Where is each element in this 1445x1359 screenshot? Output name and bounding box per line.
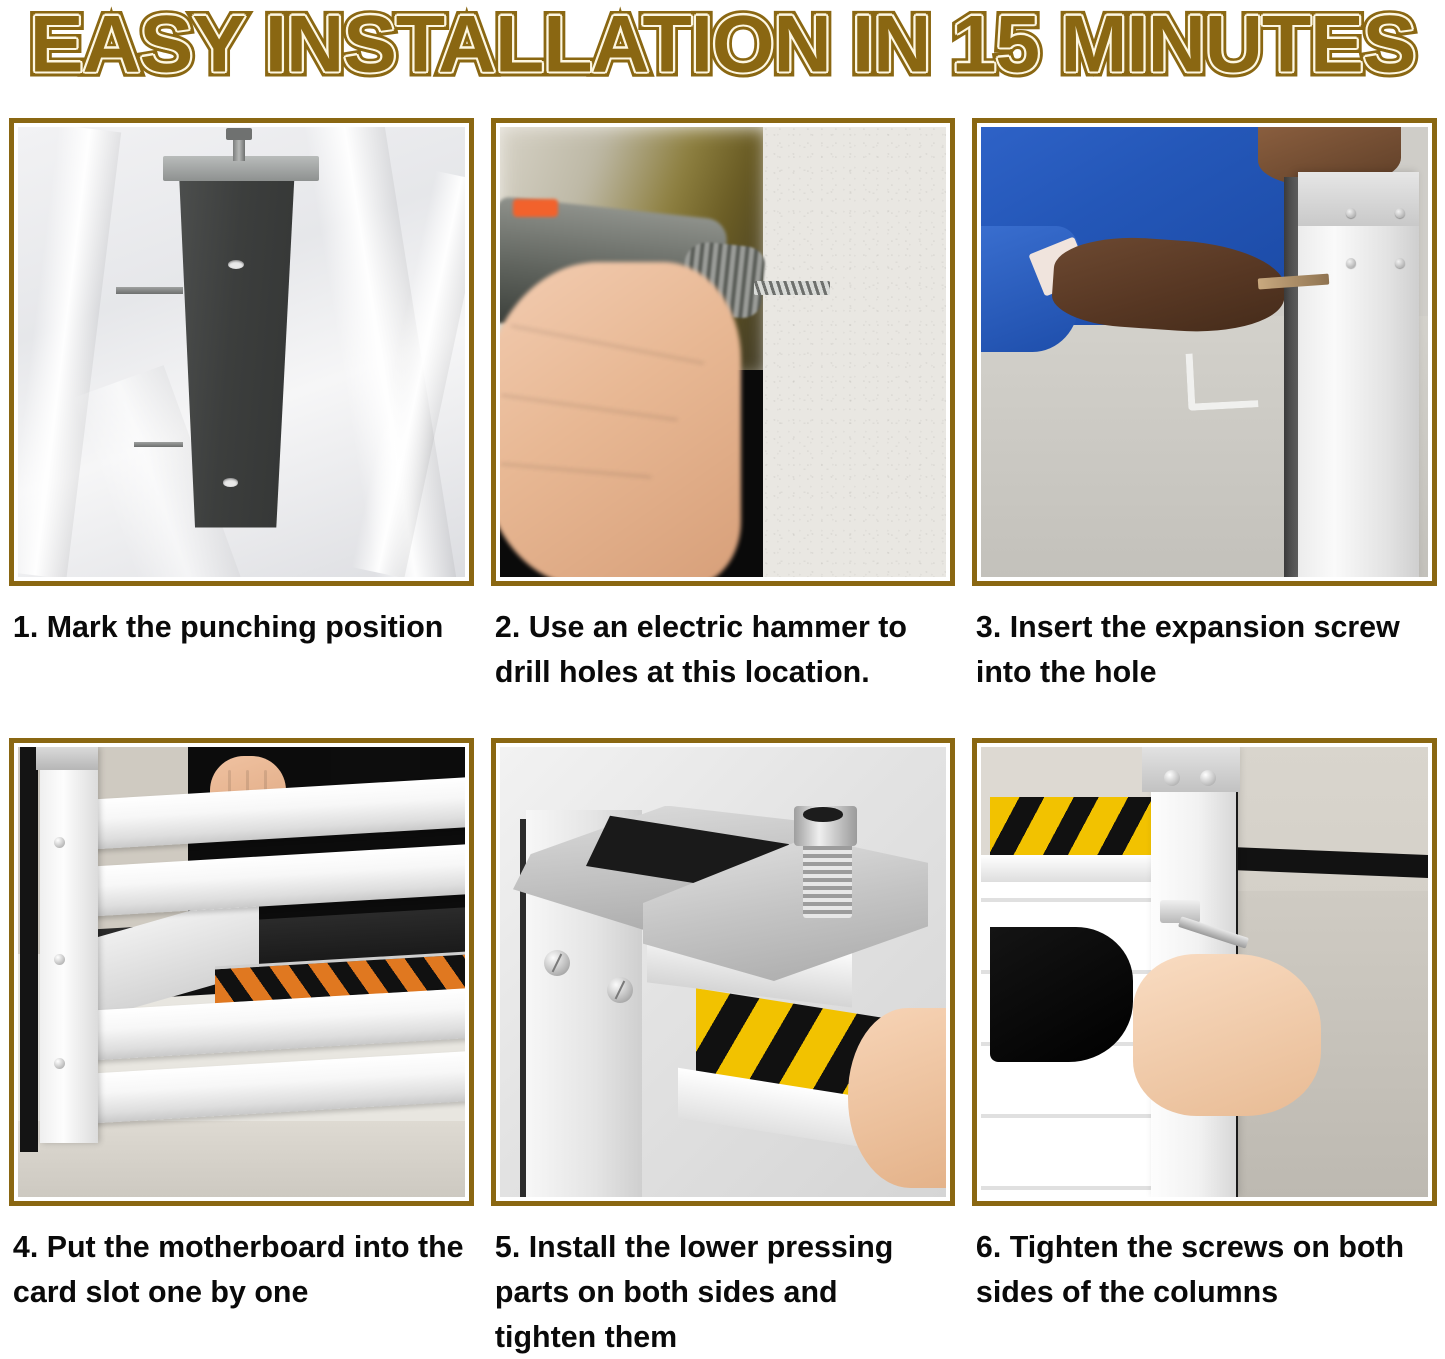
step-caption-1: 1. Mark the punching position [9,604,464,649]
installation-guide-page: EASY INSTALLATION IN 15 MINUTES EASY INS… [0,0,1445,1352]
step-photo-5 [500,747,947,1197]
column-screw [54,954,65,965]
hand [1133,954,1321,1116]
black-sleeve [990,927,1133,1062]
step-caption-3: 3. Insert the expansion screw into the h… [972,604,1427,694]
step-caption-2: 2. Use an electric hammer to drill holes… [491,604,946,694]
steps-row-2: 4. Put the motherboard into the card slo… [0,738,1445,1352]
page-title: EASY INSTALLATION IN 15 MINUTES [30,2,1416,87]
step-image-frame-3 [972,118,1437,586]
metal-post [179,168,295,528]
step-photo-3 [981,127,1428,577]
step-image-frame-2 [491,118,956,586]
column-screw [54,1058,65,1069]
column-screw [54,837,65,848]
hazard-stripe-panel [990,797,1151,860]
step-photo-6 [981,747,1428,1197]
textured-wall [763,127,946,577]
title-stack: EASY INSTALLATION IN 15 MINUTES EASY INS… [104,0,1341,78]
step-card-1: 1. Mark the punching position [0,118,482,738]
step-caption-6: 6. Tighten the screws on both sides of t… [972,1224,1427,1314]
sheet-fold [18,127,121,577]
expansion-screw [1395,258,1405,268]
rod-nut [226,128,253,140]
step-photo-1 [18,127,465,577]
column-top-plate [36,747,99,770]
step-card-3: 3. Insert the expansion screw into the h… [963,118,1445,738]
column-top-plate [1142,747,1240,792]
white-column [1298,172,1419,577]
barrier-board [981,855,1160,882]
drill-trigger [513,199,558,217]
barrier-board [89,1050,464,1123]
mounting-bolt [116,287,183,294]
bracket-screw [544,950,570,976]
step-image-frame-6 [972,738,1437,1206]
mounting-bolt [134,442,183,447]
step-card-2: 2. Use an electric hammer to drill holes… [482,118,964,738]
allen-key [1185,350,1257,410]
expansion-screw [1346,258,1356,268]
step-card-4: 4. Put the motherboard into the card slo… [0,738,482,1352]
white-column [40,747,98,1143]
steps-grid: 1. Mark the punching position [0,118,1445,1352]
column-shadow-edge [20,747,38,1152]
hand [500,262,741,577]
step-caption-4: 4. Put the motherboard into the card slo… [9,1224,464,1314]
step-card-6: 6. Tighten the screws on both sides of t… [963,738,1445,1352]
page-title-banner: EASY INSTALLATION IN 15 MINUTES EASY INS… [0,0,1445,118]
column-screw [1164,770,1180,786]
post-hole [223,478,237,487]
bracket-screw [607,977,633,1003]
step-image-frame-1 [9,118,474,586]
drill-bit [754,281,830,295]
column-shadow-edge [1284,177,1298,578]
step-photo-2 [500,127,947,577]
step-photo-4 [18,747,465,1197]
column-screw [1200,770,1216,786]
step-image-frame-4 [9,738,474,1206]
hex-bolt-socket [803,807,843,821]
step-image-frame-5 [491,738,956,1206]
hex-bolt-shaft [803,842,852,919]
steps-row-1: 1. Mark the punching position [0,118,1445,738]
step-card-5: 5. Install the lower pressing parts on b… [482,738,964,1352]
step-caption-5: 5. Install the lower pressing parts on b… [491,1224,946,1359]
post-hole [228,260,244,269]
